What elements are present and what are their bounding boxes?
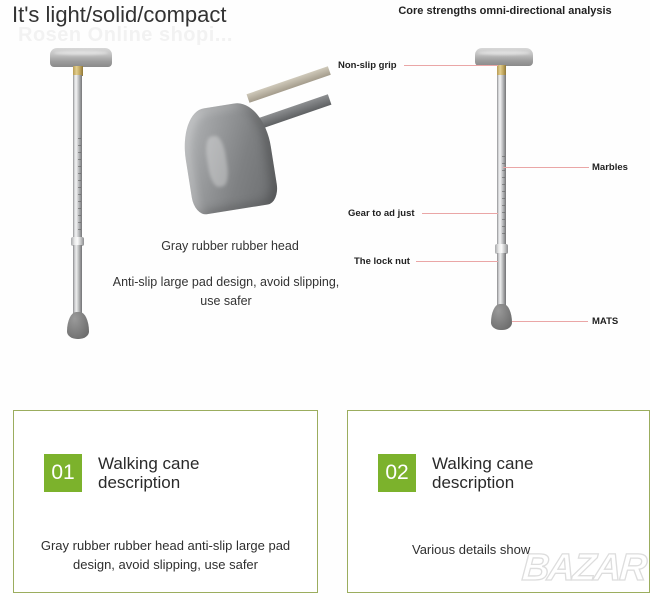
callout-leader-marbles	[503, 167, 589, 168]
info-box-01-body: Gray rubber rubber head anti-slip large …	[24, 537, 307, 575]
info-box-02-number-badge: 02	[378, 454, 416, 492]
top-section: It's light/solid/compact Rosen Online sh…	[0, 0, 650, 400]
annotated-cane-handle-shape	[475, 48, 533, 66]
walking-cane-annotated-image	[460, 48, 550, 338]
callout-label-non-slip-grip: Non-slip grip	[338, 60, 397, 71]
cane-rubber-tip-shape	[67, 312, 89, 339]
info-box-02-heading: Walking cane description	[432, 454, 533, 492]
callout-label-marbles: Marbles	[592, 162, 628, 173]
annotated-cane-rubber-tip-shape	[491, 304, 512, 330]
annotated-cane-lower-shaft-shape	[497, 253, 506, 309]
annotated-cane-scale-marks	[502, 156, 505, 239]
shop-watermark: Rosen Online shopi...	[18, 24, 233, 47]
cane-handle-shape	[50, 48, 112, 67]
cane-lower-shaft-shape	[73, 245, 82, 317]
cane-scale-marks	[78, 138, 81, 234]
info-box-02-header: 02 Walking cane description	[378, 454, 533, 492]
caption-rubber-head: Gray rubber rubber head	[120, 237, 340, 256]
callout-leader-gear-to-adjust	[422, 213, 498, 214]
left-panel: It's light/solid/compact Rosen Online sh…	[0, 0, 330, 400]
right-panel-title: Core strengths omni-directional analysis	[380, 5, 630, 17]
info-box-02: 02 Walking cane description Various deta…	[347, 410, 650, 593]
caption-anti-slip: Anti-slip large pad design, avoid slippi…	[112, 273, 340, 312]
bazar-watermark: BAZAR	[521, 547, 647, 590]
info-box-01: 01 Walking cane description Gray rubber …	[13, 410, 318, 593]
info-box-01-number-badge: 01	[44, 454, 82, 492]
info-box-01-header: 01 Walking cane description	[44, 454, 199, 492]
right-panel: Core strengths omni-directional analysis…	[330, 0, 650, 400]
callout-label-gear-to-adjust: Gear to ad just	[348, 208, 415, 219]
callout-leader-the-lock-nut	[416, 261, 498, 262]
callout-label-mats: MATS	[592, 316, 618, 327]
callout-leader-non-slip-grip	[404, 65, 498, 66]
info-box-01-heading: Walking cane description	[98, 454, 199, 492]
callout-label-the-lock-nut: The lock nut	[354, 256, 410, 267]
product-infographic-page: It's light/solid/compact Rosen Online sh…	[0, 0, 650, 600]
callout-leader-mats	[512, 321, 588, 322]
